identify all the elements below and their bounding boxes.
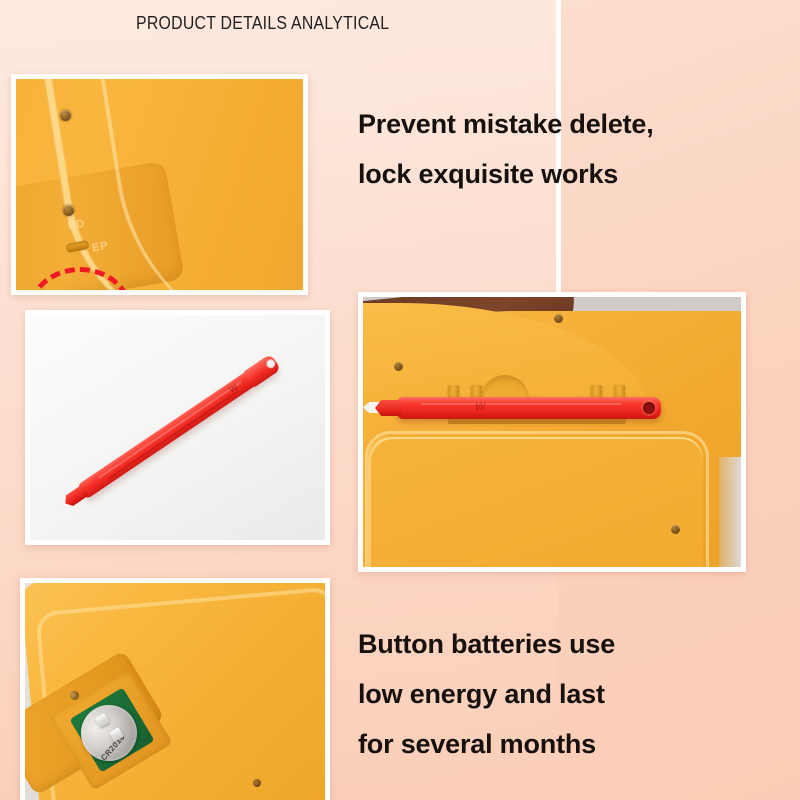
- screw-icon: [554, 314, 563, 323]
- headline-line: lock exquisite works: [358, 150, 654, 200]
- page-title: PRODUCT DETAILS ANALYTICAL: [136, 13, 389, 34]
- photo-inner: ED EP: [16, 79, 303, 290]
- headline-line: Prevent mistake delete,: [358, 100, 654, 150]
- photo-panel-stylus: W: [25, 310, 330, 545]
- headline-line: Button batteries use: [358, 620, 615, 670]
- red-stylus: W: [77, 355, 279, 499]
- headline-battery-feature: Button batteries use low energy and last…: [358, 620, 615, 770]
- stylus-ridge-shadow: [108, 390, 238, 479]
- photo-inner: W: [363, 297, 741, 567]
- screw-icon: [253, 779, 261, 787]
- photo-panel-battery: CR2016: [20, 578, 330, 800]
- scene-battery: CR2016: [25, 583, 325, 800]
- headline-line: low energy and last: [358, 670, 615, 720]
- screw-icon: [60, 110, 71, 121]
- photo-inner: CR2016: [25, 583, 325, 800]
- headline-line: for several months: [358, 720, 615, 770]
- screw-icon: [671, 525, 680, 534]
- stylus-ridge-highlight: [421, 403, 621, 405]
- photo-panel-lock-switch: ED EP: [11, 74, 308, 295]
- stylus-brand-mark: W: [475, 401, 485, 413]
- product-detail-page: PRODUCT DETAILS ANALYTICAL ED EP: [0, 0, 800, 800]
- screw-icon: [63, 205, 74, 216]
- photo-inner: W: [30, 315, 325, 540]
- scene-stylus: W: [30, 315, 325, 540]
- writing-screen: [371, 437, 703, 567]
- background-edge: [719, 457, 741, 567]
- photo-panel-stylus-holder: W: [358, 292, 746, 572]
- screw-icon: [394, 362, 403, 371]
- stylus-lanyard-hole: [643, 402, 655, 414]
- stylus-lanyard-hole: [264, 357, 276, 369]
- scene-lock-switch: ED EP: [16, 79, 303, 290]
- stylus-cap: [242, 353, 281, 388]
- stylus-ridge-highlight: [98, 380, 242, 478]
- headline-lock-feature: Prevent mistake delete, lock exquisite w…: [358, 100, 654, 200]
- red-stylus: W: [397, 397, 661, 419]
- scene-stylus-holder: W: [363, 297, 741, 567]
